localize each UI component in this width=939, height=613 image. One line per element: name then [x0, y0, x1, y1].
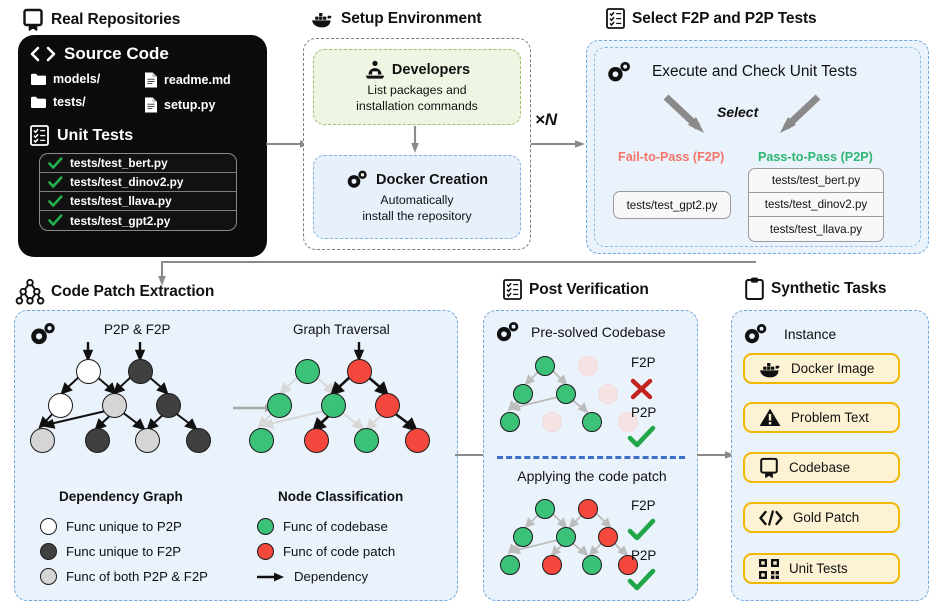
legend-swatch-white — [40, 518, 57, 535]
task-item-gold-patch[interactable]: Gold Patch — [743, 502, 900, 533]
legend-swatch-red — [257, 543, 274, 560]
task-label: Unit Tests — [789, 561, 848, 576]
pre-solved-p2p-label: P2P — [631, 405, 656, 420]
list-item: tests/test_llava.py — [40, 192, 236, 211]
pipeline-figure: Real Repositories Source Code models/ — [0, 0, 939, 613]
graph-node-faded — [542, 412, 562, 432]
select-branch-arrows — [620, 95, 910, 143]
legend-swatch-gray — [40, 568, 57, 585]
task-item-problem-text[interactable]: Problem Text — [743, 402, 900, 433]
graph-node-p2p-root — [76, 359, 101, 384]
graph-node — [186, 428, 211, 453]
graph-node-codebase — [267, 393, 292, 418]
repo-entry-tests: tests/ — [30, 95, 126, 109]
entry-label: readme.md — [164, 73, 231, 87]
applied-patch-graph-nodes — [500, 497, 640, 589]
file-icon — [144, 97, 158, 113]
connector-developers-to-docker — [409, 126, 421, 154]
folder-icon — [30, 72, 47, 86]
source-code-title: Source Code — [30, 44, 255, 64]
unit-tests-title: Unit Tests — [30, 125, 255, 146]
docker-creation-desc: Automatically install the repository — [362, 193, 471, 224]
task-label: Gold Patch — [793, 510, 859, 525]
list-item: tests/test_gpt2.py — [40, 211, 236, 230]
gears-icon — [743, 322, 770, 346]
test-name: tests/test_gpt2.py — [70, 214, 170, 228]
developers-box: Developers List packages and installatio… — [313, 49, 521, 125]
legend-item: Dependency — [257, 564, 395, 589]
f2p-label: Fail-to-Pass (F2P) — [618, 150, 724, 164]
legend-label: Func of code patch — [283, 544, 395, 559]
source-code-label: Source Code — [64, 44, 169, 64]
docker-creation-label: Docker Creation — [376, 172, 488, 188]
test-name: tests/test_bert.py — [772, 174, 860, 187]
repeat-n-label: ×N — [535, 110, 557, 130]
graph-node-faded — [578, 356, 598, 376]
graph-node-patch — [598, 527, 618, 547]
graph-node — [135, 428, 160, 453]
legend-label: Func unique to F2P — [66, 544, 181, 559]
docker-icon — [758, 358, 782, 379]
legend-label: Func of codebase — [283, 519, 388, 534]
section-header-setup-environment: Setup Environment — [310, 8, 481, 30]
p2p-test-list[interactable]: tests/test_bert.py tests/test_dinov2.py … — [748, 168, 884, 242]
gears-icon — [346, 169, 370, 190]
docker-creation-box: Docker Creation Automatically install th… — [313, 155, 521, 239]
graph-node — [30, 428, 55, 453]
legend-label: Func unique to P2P — [66, 519, 182, 534]
pre-solved-label: Pre-solved Codebase — [531, 324, 666, 340]
graph-node-patch — [304, 428, 329, 453]
section-header-select-tests: Select F2P and P2P Tests — [606, 8, 817, 29]
developers-title: Developers — [364, 60, 470, 80]
task-label: Codebase — [789, 460, 850, 475]
graph-node-codebase — [500, 412, 520, 432]
node-classification-caption: Node Classification — [278, 489, 403, 504]
select-label: Select — [717, 104, 758, 120]
unit-tests-label: Unit Tests — [57, 127, 133, 145]
task-item-unit-tests[interactable]: Unit Tests — [743, 553, 900, 584]
codebase-book-icon — [22, 8, 44, 32]
graph-node-faded — [598, 384, 618, 404]
task-item-docker-image[interactable]: Docker Image — [743, 353, 900, 384]
check-icon — [627, 568, 657, 592]
legend-label: Dependency — [294, 569, 368, 584]
test-name: tests/test_llava.py — [770, 223, 862, 236]
graph-node-patch — [405, 428, 430, 453]
connector-select-to-extraction — [130, 250, 760, 290]
section-header-code-patch-extraction: Code Patch Extraction — [16, 279, 214, 305]
dependency-graph-nodes — [28, 340, 228, 465]
graph-node-codebase — [354, 428, 379, 453]
checklist-icon — [606, 8, 625, 29]
p2p-f2p-input-label: P2P & F2P — [104, 322, 171, 337]
test-name: tests/test_dinov2.py — [765, 198, 867, 211]
legend-item: Func of codebase — [257, 514, 395, 539]
graph-node-codebase — [500, 555, 520, 575]
graph-node-codebase — [513, 527, 533, 547]
warning-icon — [758, 407, 782, 428]
section-title: Select F2P and P2P Tests — [632, 10, 817, 28]
check-icon — [48, 214, 63, 227]
legend-item: Func unique to P2P — [40, 514, 208, 539]
section-title: Code Patch Extraction — [51, 283, 214, 301]
section-title: Setup Environment — [341, 10, 481, 28]
codebase-book-icon — [758, 457, 780, 479]
legend-label: Func of both P2P & F2P — [66, 569, 208, 584]
graph-node-codebase — [582, 412, 602, 432]
docker-icon — [310, 8, 334, 30]
entry-label: tests/ — [53, 95, 86, 109]
check-icon — [48, 157, 63, 170]
graph-node-codebase — [321, 393, 346, 418]
repo-entry-readme: readme.md — [144, 72, 231, 88]
section-title: Synthetic Tasks — [771, 280, 886, 298]
graph-traversal-label: Graph Traversal — [293, 322, 390, 337]
repo-entry-models: models/ — [30, 72, 126, 86]
legend-item: Func of code patch — [257, 539, 395, 564]
legend-left: Func unique to P2P Func unique to F2P Fu… — [40, 514, 208, 589]
graph-node-patch — [542, 555, 562, 575]
entry-label: setup.py — [164, 98, 215, 112]
gears-icon — [495, 320, 522, 344]
task-item-codebase[interactable]: Codebase — [743, 452, 900, 483]
verification-divider — [497, 456, 685, 459]
checklist-icon — [503, 279, 522, 300]
legend-item: Func unique to F2P — [40, 539, 208, 564]
check-icon — [627, 518, 657, 542]
docker-creation-title: Docker Creation — [346, 169, 488, 190]
graph-node-codebase — [535, 356, 555, 376]
developers-desc: List packages and installation commands — [356, 83, 478, 114]
graph-node-patch — [375, 393, 400, 418]
repo-card: Source Code models/ tests/ — [18, 35, 267, 257]
graph-node-codebase — [556, 384, 576, 404]
f2p-test-chip[interactable]: tests/test_gpt2.py — [613, 191, 731, 219]
graph-node — [85, 428, 110, 453]
graph-tree-icon — [16, 279, 44, 305]
legend-swatch-green — [257, 518, 274, 535]
clipboard-icon — [745, 277, 764, 300]
graph-node-codebase — [535, 499, 555, 519]
connector-setup-to-select — [531, 138, 587, 150]
test-name: tests/test_gpt2.py — [627, 199, 718, 212]
section-header-post-verification: Post Verification — [503, 279, 649, 300]
list-item[interactable]: tests/test_bert.py — [749, 169, 883, 193]
instance-label: Instance — [784, 327, 836, 342]
execute-check-label: Execute and Check Unit Tests — [652, 63, 857, 81]
test-name: tests/test_bert.py — [70, 156, 168, 170]
applied-f2p-label: F2P — [631, 498, 656, 513]
section-header-synthetic-tasks: Synthetic Tasks — [745, 277, 886, 300]
section-title: Real Repositories — [51, 11, 180, 29]
code-brackets-icon — [758, 509, 784, 527]
file-icon — [144, 72, 158, 88]
section-title: Post Verification — [529, 281, 649, 299]
folder-icon — [30, 95, 47, 109]
node-classification-nodes — [247, 340, 447, 465]
section-header-real-repositories: Real Repositories — [22, 8, 180, 32]
check-icon — [48, 195, 63, 208]
instance-header: Instance — [743, 322, 836, 346]
legend-right: Func of codebase Func of code patch Depe… — [257, 514, 395, 589]
task-label: Problem Text — [791, 410, 869, 425]
graph-node-codebase — [513, 384, 533, 404]
graph-node-codebase — [249, 428, 274, 453]
dependency-arrow-icon — [257, 571, 285, 583]
graph-node-codebase — [556, 527, 576, 547]
legend-item: Func of both P2P & F2P — [40, 564, 208, 589]
task-label: Docker Image — [791, 361, 874, 376]
applying-patch-title: Applying the code patch — [497, 468, 687, 484]
dependency-graph-caption: Dependency Graph — [59, 489, 183, 504]
checklist-icon — [30, 125, 49, 146]
legend-swatch-dark — [40, 543, 57, 560]
list-item: tests/test_bert.py — [40, 154, 236, 173]
graph-node-f2p-root — [128, 359, 153, 384]
cross-icon — [629, 377, 655, 401]
pre-solved-graph-nodes — [500, 354, 640, 446]
pre-solved-f2p-label: F2P — [631, 355, 656, 370]
repo-entry-setup: setup.py — [144, 97, 231, 113]
check-icon — [48, 176, 63, 189]
check-icon — [627, 425, 657, 449]
graph-node — [48, 393, 73, 418]
graph-node-codebase — [295, 359, 320, 384]
p2p-label: Pass-to-Pass (P2P) — [758, 150, 873, 164]
qr-tests-icon — [758, 558, 780, 580]
entry-label: models/ — [53, 72, 100, 86]
unit-tests-list: tests/test_bert.py tests/test_dinov2.py … — [39, 153, 237, 231]
developer-person-icon — [364, 60, 386, 80]
list-item: tests/test_dinov2.py — [40, 173, 236, 192]
developers-label: Developers — [392, 62, 470, 78]
graph-node-patch — [578, 499, 598, 519]
graph-node — [156, 393, 181, 418]
applied-p2p-label: P2P — [631, 548, 656, 563]
list-item[interactable]: tests/test_llava.py — [749, 217, 883, 241]
pre-solved-title: Pre-solved Codebase — [495, 320, 666, 344]
graph-node — [102, 393, 127, 418]
gears-icon — [606, 60, 634, 84]
graph-node-codebase — [582, 555, 602, 575]
test-name: tests/test_llava.py — [70, 194, 172, 208]
test-name: tests/test_dinov2.py — [70, 175, 183, 189]
graph-node-patch — [347, 359, 372, 384]
angle-brackets-icon — [30, 46, 56, 62]
execute-check-title: Execute and Check Unit Tests — [606, 60, 857, 84]
list-item[interactable]: tests/test_dinov2.py — [749, 193, 883, 217]
